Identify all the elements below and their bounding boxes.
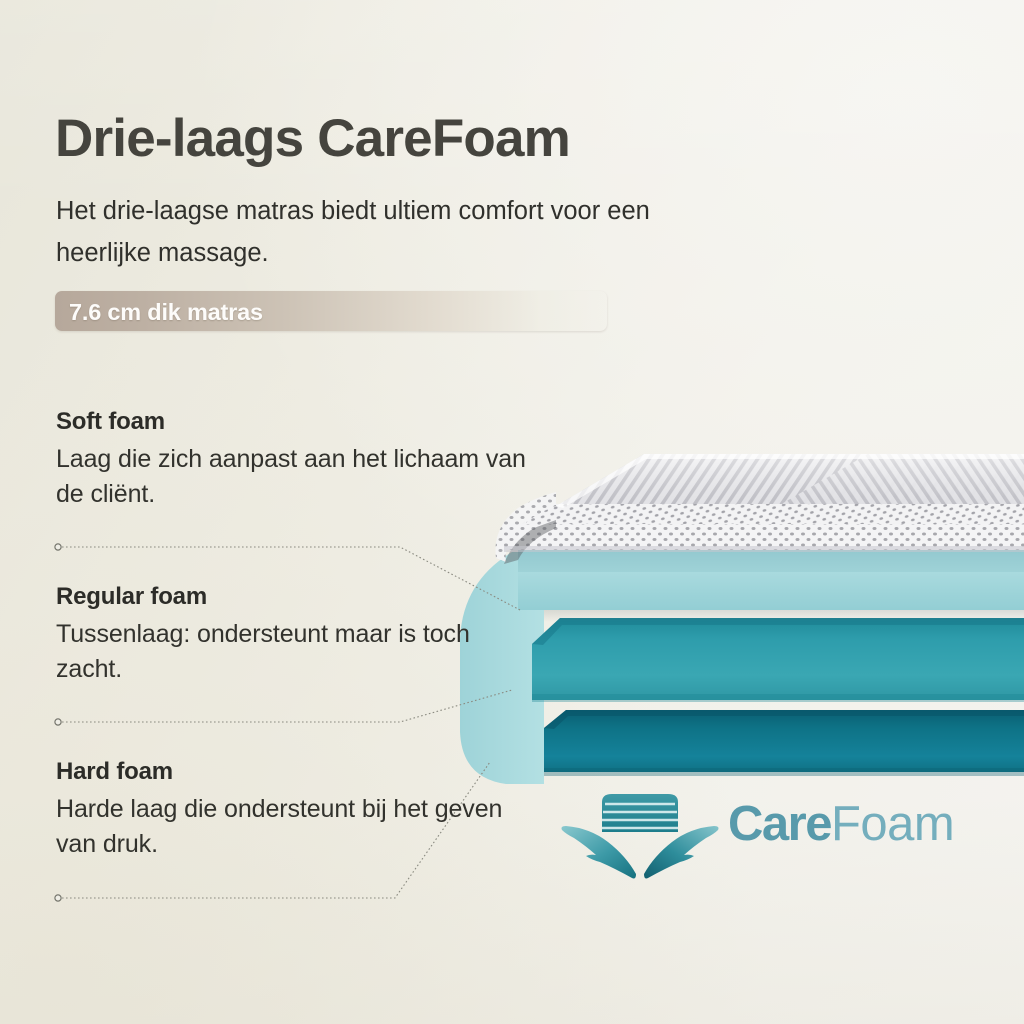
layer-block-hard-foam: Hard foam Harde laag die ondersteunt bij…	[56, 758, 526, 863]
layer-heading-hard-foam: Hard foam	[56, 758, 526, 786]
layer-heading-regular-foam: Regular foam	[56, 583, 526, 611]
layer-description-regular-foam: Tussenlaag: ondersteunt maar is toch zac…	[56, 617, 526, 688]
connector-dot-regular-foam	[55, 719, 61, 725]
layer-block-regular-foam: Regular foam Tussenlaag: ondersteunt maa…	[56, 583, 526, 688]
logo-word-care: Care	[728, 797, 831, 851]
logo-left-hand	[562, 826, 637, 879]
carefoam-logo: CareFoam	[556, 786, 968, 890]
connector-dot-hard-foam	[55, 895, 61, 901]
connector-dot-soft-foam	[55, 544, 61, 550]
layer-heading-soft-foam: Soft foam	[56, 408, 526, 436]
logo-mattress-block	[602, 794, 678, 832]
logo-word-foam: Foam	[831, 797, 954, 851]
thickness-badge-label: 7.6 cm dik matras	[69, 299, 263, 326]
page-title: Drie-laags CareFoam	[55, 111, 755, 167]
layer-description-hard-foam: Harde laag die ondersteunt bij het geven…	[56, 792, 526, 863]
page-subtitle: Het drie-laagse matras biedt ultiem comf…	[56, 190, 696, 275]
infographic-canvas: Drie-laags CareFoam Het drie-laagse matr…	[0, 0, 1024, 1024]
layer-description-soft-foam: Laag die zich aanpast aan het lichaam va…	[56, 442, 526, 513]
hands-cradling-mattress-icon	[556, 786, 726, 890]
connector-regular-foam	[58, 690, 512, 722]
logo-right-hand	[644, 826, 719, 879]
layer-block-soft-foam: Soft foam Laag die zich aanpast aan het …	[56, 408, 526, 513]
logo-wordmark: CareFoam	[728, 800, 954, 849]
